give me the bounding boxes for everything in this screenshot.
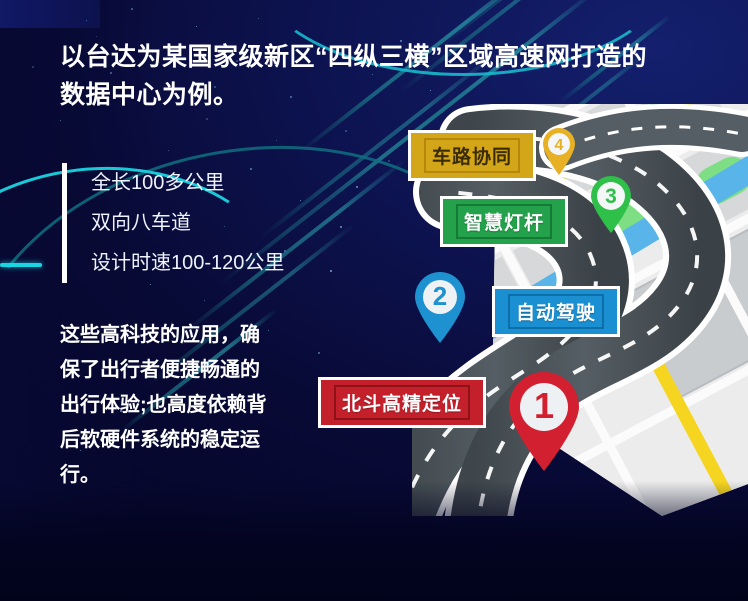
map-tag-che-lu-xie-tong-label: 车路协同 — [424, 138, 520, 173]
spec-list: 全长100多公里 双向八车道 设计时速100-120公里 — [62, 163, 284, 283]
map-marker-1-number: 1 — [534, 385, 554, 426]
cyan-accent-segment — [0, 263, 42, 267]
infographic-slide: 4 3 2 1 车路协同 智慧灯杆 自动驾驶 北斗高精定位 — [0, 0, 748, 601]
spec-list-item-0: 全长100多公里 — [91, 163, 284, 203]
body-paragraph: 这些高科技的应用，确保了出行者便捷畅通的出行体验;也高度依赖背后软硬件系统的稳定… — [60, 318, 275, 493]
map-marker-4-number: 4 — [555, 137, 564, 154]
spec-list-item-2: 设计时速100-120公里 — [91, 243, 284, 283]
page-title: 以台达为某国家级新区“四纵三横”区域高速网打造的数据中心为例。 — [60, 38, 670, 114]
map-marker-1[interactable]: 1 — [508, 372, 580, 472]
map-marker-2[interactable]: 2 — [414, 272, 466, 344]
map-tag-zhi-hui-deng-gan-label: 智慧灯杆 — [456, 204, 552, 239]
map-marker-2-number: 2 — [433, 281, 447, 311]
map-tag-che-lu-xie-tong[interactable]: 车路协同 — [408, 130, 536, 181]
map-marker-4[interactable]: 4 — [542, 128, 576, 176]
map-marker-3[interactable]: 3 — [590, 176, 632, 234]
background-bottom-shade — [0, 481, 748, 601]
map-tag-zhi-hui-deng-gan[interactable]: 智慧灯杆 — [440, 196, 568, 247]
map-tag-zi-dong-jia-shi-label: 自动驾驶 — [508, 294, 604, 329]
spec-list-item-1: 双向八车道 — [91, 203, 284, 243]
map-tag-bei-dou-gao-jing-ding-wei-label: 北斗高精定位 — [334, 385, 470, 420]
map-tag-bei-dou-gao-jing-ding-wei[interactable]: 北斗高精定位 — [318, 377, 486, 428]
map-marker-3-number: 3 — [605, 185, 617, 208]
map-tag-zi-dong-jia-shi[interactable]: 自动驾驶 — [492, 286, 620, 337]
